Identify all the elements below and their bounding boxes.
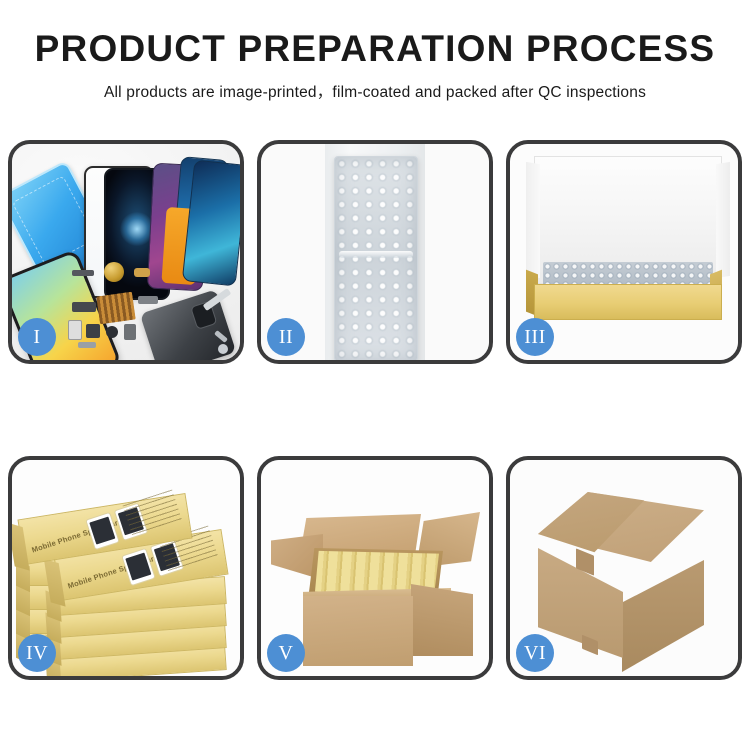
step-badge-6: VI [516, 634, 554, 672]
step-badge-5: V [267, 634, 305, 672]
carton-side-face-icon [411, 584, 473, 656]
spare-part-icon [78, 342, 96, 348]
page-subtitle: All products are image-printed，film-coat… [0, 80, 750, 102]
spare-part-icon [134, 268, 150, 277]
spare-part-icon [86, 324, 100, 338]
spare-part-icon [124, 324, 136, 340]
step-badge-1: I [18, 318, 56, 356]
carton-front-face-icon [303, 596, 413, 666]
process-step-panel-2[interactable]: II [257, 140, 493, 364]
step-badge-3: III [516, 318, 554, 356]
vibration-motor-icon [104, 262, 124, 282]
spare-part-icon [72, 302, 96, 312]
spare-part-icon [138, 296, 158, 304]
step-badge-2: II [267, 318, 305, 356]
process-step-panel-1[interactable]: I [8, 140, 244, 364]
bubble-wrap-icon [334, 156, 418, 360]
page-header: PRODUCT PREPARATION PROCESS All products… [0, 0, 750, 102]
process-step-panel-5[interactable]: V [257, 456, 493, 680]
step-badge-4: IV [18, 634, 56, 672]
spare-part-icon [68, 320, 82, 340]
process-step-panel-3[interactable]: III [506, 140, 742, 364]
kraft-box-front-icon [534, 284, 722, 320]
chip-grid-icon [96, 292, 136, 325]
page-title: PRODUCT PREPARATION PROCESS [0, 30, 750, 69]
process-step-panel-4[interactable]: Mobile Phone Spare Parts Mobile Phone Sp… [8, 456, 244, 680]
process-step-grid: I II III [8, 140, 742, 680]
spare-part-icon [72, 270, 94, 276]
process-step-panel-6[interactable]: VI [506, 456, 742, 680]
spare-part-icon [218, 344, 228, 354]
spare-part-icon [106, 326, 118, 338]
box-spec-lines-icon [123, 489, 182, 536]
carton-side-face-icon [622, 560, 704, 672]
